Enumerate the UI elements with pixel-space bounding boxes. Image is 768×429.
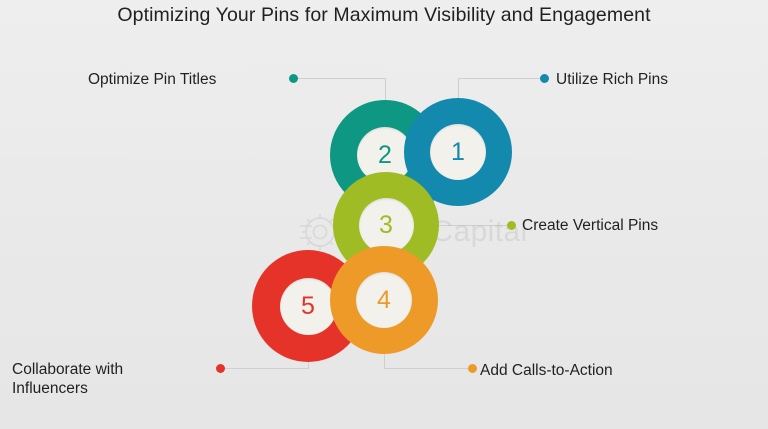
step-label-3: Create Vertical Pins (522, 216, 658, 235)
connector-step-3-horizontal (432, 225, 508, 226)
step-label-4: Add Calls-to-Action (480, 361, 613, 380)
infographic-canvas: Optimizing Your Pins for Maximum Visibil… (0, 0, 768, 429)
step-ring-4-center: 4 (356, 272, 412, 328)
step-label-1: Utilize Rich Pins (556, 70, 668, 89)
connector-step-1-vertical (458, 78, 459, 100)
step-dot-2 (289, 74, 298, 83)
step-label-5: Collaborate with Influencers (12, 360, 123, 398)
step-ring-3-center: 3 (359, 198, 414, 253)
step-ring-4[interactable]: 4 (330, 246, 438, 354)
connector-step-2-vertical (385, 78, 386, 102)
step-ring-5-center: 5 (280, 278, 337, 335)
connector-step-1-horizontal (458, 78, 540, 79)
step-dot-5 (216, 364, 225, 373)
step-ring-1-center: 1 (430, 124, 486, 180)
connector-step-5-horizontal (223, 368, 309, 369)
step-number-2: 2 (378, 143, 392, 168)
step-number-1: 1 (451, 140, 465, 165)
connector-step-4-horizontal (384, 368, 469, 369)
step-number-5: 5 (301, 294, 315, 319)
step-dot-1 (540, 74, 549, 83)
step-number-4: 4 (377, 288, 391, 313)
step-dot-3 (507, 221, 516, 230)
page-title: Optimizing Your Pins for Maximum Visibil… (0, 4, 768, 27)
connector-step-2-horizontal (297, 78, 385, 79)
step-number-3: 3 (379, 213, 393, 238)
step-dot-4 (468, 364, 477, 373)
step-label-2: Optimize Pin Titles (88, 70, 216, 89)
